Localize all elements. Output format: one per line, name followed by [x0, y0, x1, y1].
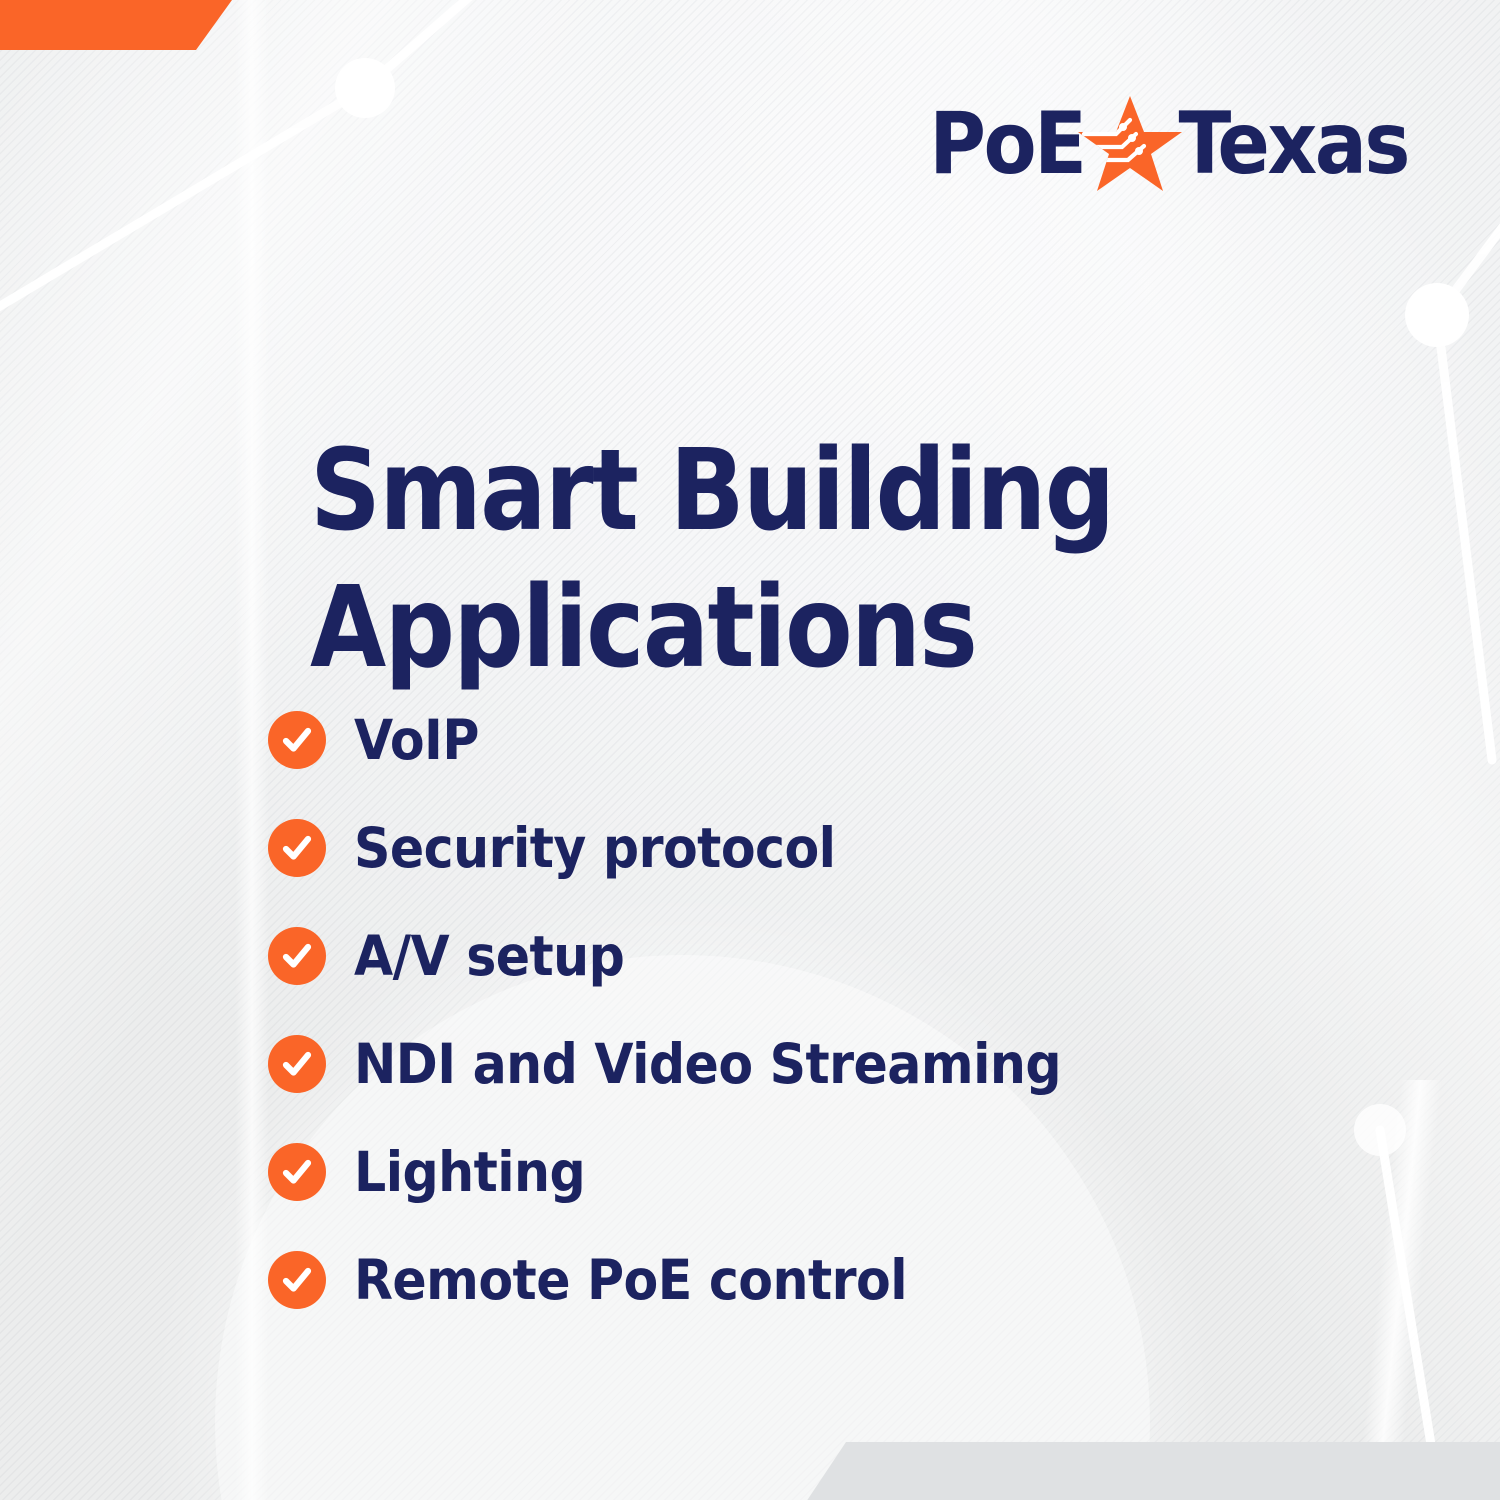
list-item-label: A/V setup: [354, 929, 624, 984]
logo-text-poe: PoE: [929, 104, 1084, 186]
list-item: Lighting: [268, 1118, 1268, 1226]
star-circuit-icon: [1078, 94, 1182, 192]
grey-bottom-panel: [806, 1442, 1500, 1500]
page-title: Smart Building Applications: [310, 423, 1120, 696]
applications-checklist: VoIP Security protocol A/V setup: [268, 686, 1268, 1334]
list-item: A/V setup: [268, 902, 1268, 1010]
list-item-label: Security protocol: [354, 821, 835, 876]
list-item: Remote PoE control: [268, 1226, 1268, 1334]
page-title-line-1: Smart Building: [310, 423, 1120, 560]
check-circle-icon: [268, 927, 326, 985]
check-circle-icon: [268, 1251, 326, 1309]
check-circle-icon: [268, 1035, 326, 1093]
list-item: NDI and Video Streaming: [268, 1010, 1268, 1118]
orange-corner-flag: [0, 0, 232, 50]
check-circle-icon: [268, 1143, 326, 1201]
list-item-label: NDI and Video Streaming: [354, 1037, 1061, 1092]
check-circle-icon: [268, 711, 326, 769]
poe-texas-logo[interactable]: PoE Texas: [929, 96, 1408, 194]
logo-text-texas: Texas: [1178, 104, 1408, 186]
check-circle-icon: [268, 819, 326, 877]
list-item-label: Lighting: [354, 1145, 585, 1200]
list-item: VoIP: [268, 686, 1268, 794]
list-item-label: Remote PoE control: [354, 1253, 907, 1308]
poster-canvas: PoE Texas Smart Building Applicati: [0, 0, 1500, 1500]
list-item-label: VoIP: [354, 713, 479, 768]
page-title-line-2: Applications: [310, 560, 1120, 697]
list-item: Security protocol: [268, 794, 1268, 902]
